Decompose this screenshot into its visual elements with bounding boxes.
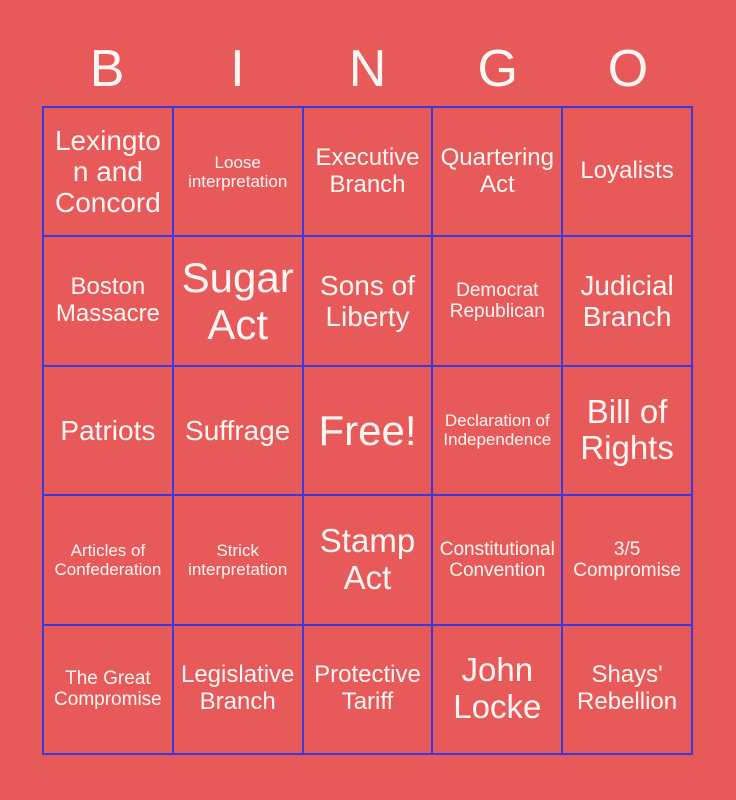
bingo-cell[interactable]: Sugar Act [174, 237, 304, 366]
bingo-header: B I N G O [42, 36, 693, 102]
bingo-cell-label: Executive Branch [308, 145, 428, 199]
bingo-cell[interactable]: Sons of Liberty [304, 237, 434, 366]
bingo-cell-free[interactable]: Free! [304, 367, 434, 496]
header-letter-o: O [563, 36, 693, 102]
header-letter-g: G [433, 36, 563, 102]
bingo-cell-label: Stamp Act [308, 523, 428, 597]
bingo-cell[interactable]: Patriots [44, 367, 174, 496]
bingo-cell[interactable]: 3/5 Compromise [563, 496, 693, 625]
bingo-cell-label: John Locke [437, 652, 557, 726]
bingo-cell[interactable]: Executive Branch [304, 108, 434, 237]
bingo-cell-label: Sons of Liberty [308, 270, 428, 333]
bingo-cell[interactable]: Suffrage [174, 367, 304, 496]
bingo-cell[interactable]: Democrat Republican [433, 237, 563, 366]
bingo-cell-label: Loose interpretation [178, 153, 298, 191]
bingo-cell[interactable]: Strick interpretation [174, 496, 304, 625]
bingo-cell-label: Declaration of Independence [437, 411, 557, 449]
bingo-cell-label: Democrat Republican [437, 280, 557, 323]
bingo-card: B I N G O Lexington and Concord Loose in… [0, 0, 736, 800]
bingo-cell-label: Sugar Act [178, 254, 298, 348]
bingo-cell-label: Free! [308, 407, 428, 454]
header-letter-b: B [42, 36, 172, 102]
bingo-cell-label: Patriots [48, 415, 168, 446]
bingo-cell[interactable]: Judicial Branch [563, 237, 693, 366]
bingo-cell[interactable]: Legislative Branch [174, 626, 304, 755]
bingo-cell-label: Lexington and Concord [48, 125, 168, 219]
bingo-cell-label: Suffrage [178, 415, 298, 446]
bingo-cell[interactable]: Declaration of Independence [433, 367, 563, 496]
bingo-cell-label: Constitutional Convention [437, 539, 557, 582]
bingo-cell[interactable]: Lexington and Concord [44, 108, 174, 237]
bingo-cell-label: Legislative Branch [178, 662, 298, 716]
bingo-cell-label: Loyalists [567, 158, 687, 185]
bingo-cell[interactable]: Protective Tariff [304, 626, 434, 755]
bingo-cell-label: Bill of Rights [567, 394, 687, 468]
bingo-cell[interactable]: Constitutional Convention [433, 496, 563, 625]
bingo-cell-label: Strick interpretation [178, 541, 298, 579]
bingo-cell-label: 3/5 Compromise [567, 539, 687, 582]
bingo-cell-label: Judicial Branch [567, 270, 687, 333]
bingo-cell[interactable]: Articles of Confederation [44, 496, 174, 625]
bingo-cell-label: Protective Tariff [308, 662, 428, 716]
bingo-cell-label: Quartering Act [437, 145, 557, 199]
bingo-cell[interactable]: Bill of Rights [563, 367, 693, 496]
bingo-cell[interactable]: Loose interpretation [174, 108, 304, 237]
bingo-cell[interactable]: Boston Massacre [44, 237, 174, 366]
bingo-cell-label: Shays' Rebellion [567, 662, 687, 716]
bingo-cell-label: Articles of Confederation [48, 541, 168, 579]
bingo-grid: Lexington and Concord Loose interpretati… [42, 106, 693, 755]
bingo-cell-label: The Great Compromise [48, 668, 168, 711]
bingo-cell[interactable]: John Locke [433, 626, 563, 755]
header-letter-n: N [302, 36, 432, 102]
bingo-cell[interactable]: Quartering Act [433, 108, 563, 237]
bingo-cell[interactable]: Loyalists [563, 108, 693, 237]
bingo-cell-label: Boston Massacre [48, 274, 168, 328]
bingo-cell[interactable]: Shays' Rebellion [563, 626, 693, 755]
bingo-cell[interactable]: The Great Compromise [44, 626, 174, 755]
header-letter-i: I [172, 36, 302, 102]
bingo-cell[interactable]: Stamp Act [304, 496, 434, 625]
